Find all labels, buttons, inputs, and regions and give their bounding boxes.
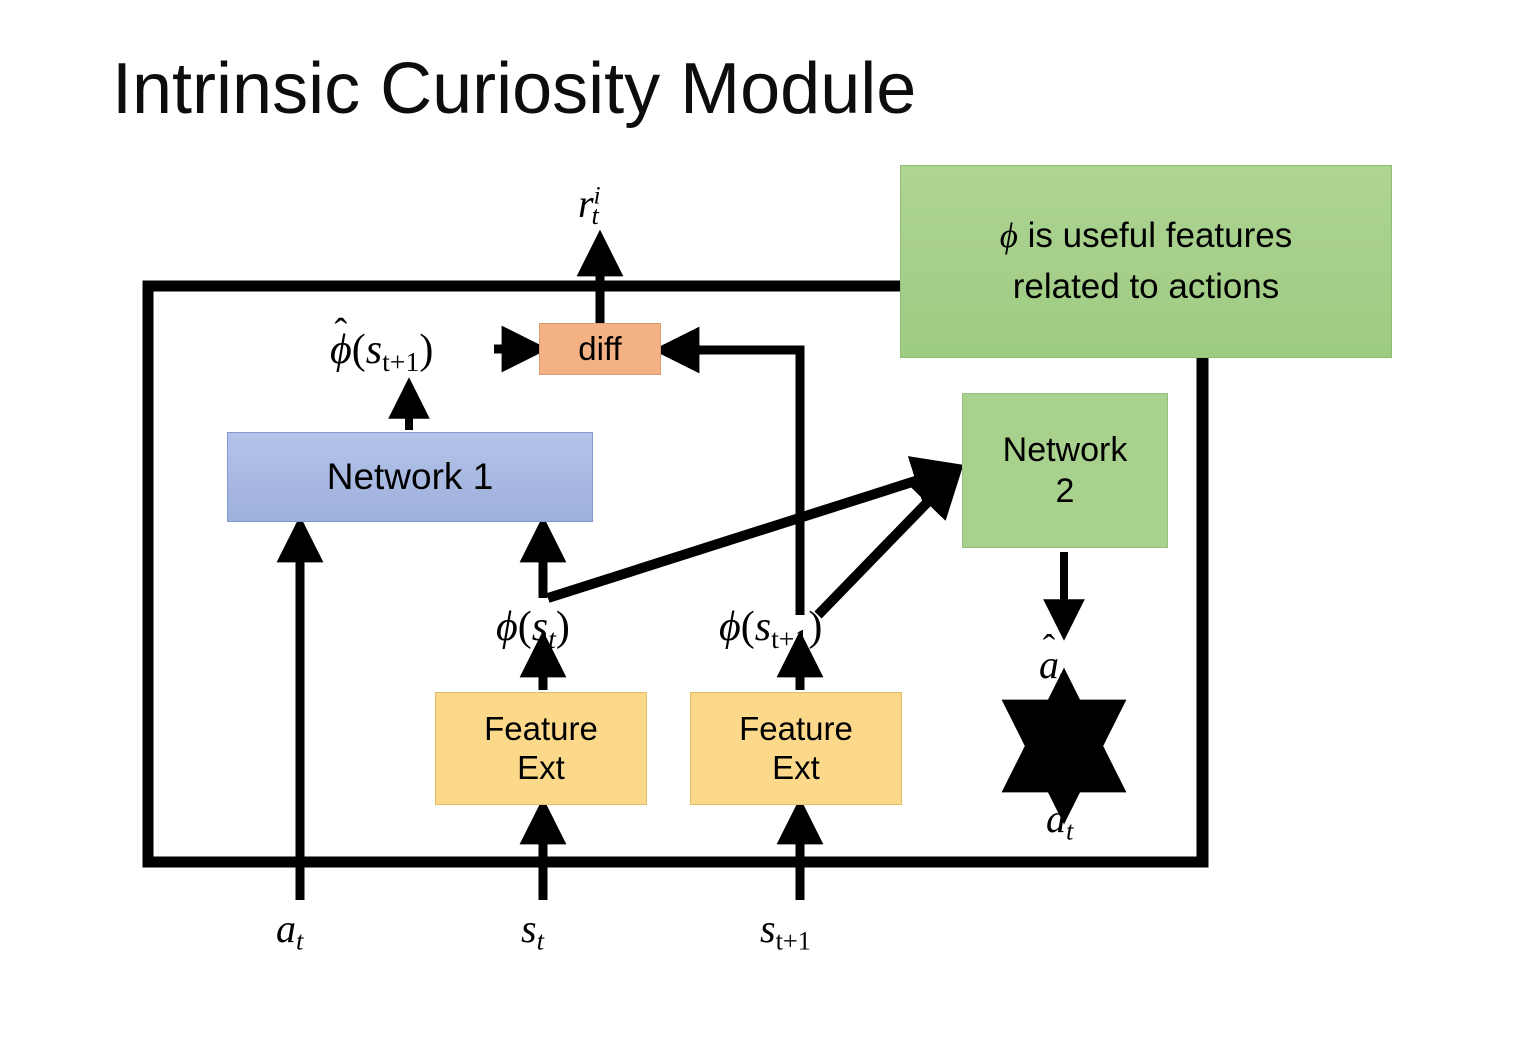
label-phi-next-state: ϕ(st+1) [719,603,822,655]
diagram-canvas: Intrinsic Curiosity Module [0,0,1540,1048]
action-right-base: a [1046,796,1066,841]
input-state-base: s [521,906,537,951]
phi-hat-arg: s [366,327,382,373]
input-next-base: s [760,906,776,951]
node-network1[interactable]: Network 1 [227,432,593,522]
network2-label-line2: 2 [1056,471,1075,511]
phi-hat-paren-open: ( [352,327,366,373]
label-input-next-state: st+1 [760,905,811,956]
feature-ext-2-label-line1: Feature [739,710,853,749]
label-intrinsic-reward: rit [578,180,599,231]
node-network2[interactable]: Network 2 [962,393,1168,548]
phi-hat-arg-sub: t+1 [382,346,419,377]
edge-phinext-to-diff [667,350,800,615]
phi-next-base: ϕ [719,604,741,650]
input-action-sub: t [296,925,303,955]
label-input-state: st [521,905,544,956]
network2-label-line1: Network [1003,430,1128,470]
diff-label: diff [578,330,621,369]
label-input-action: at [276,905,303,956]
phi-next-paren-open: ( [741,604,755,650]
node-feature-ext-1[interactable]: Feature Ext [435,692,647,805]
annotation-line1: ϕ is useful features [1000,211,1292,262]
phi-state-paren-open: ( [518,604,532,650]
phi-state-arg: s [532,604,548,650]
edge-phinext-to-network2 [818,477,952,615]
phi-next-arg-sub: t+1 [771,623,808,654]
feature-ext-2-label-line2: Ext [772,749,820,788]
phi-hat-base: ϕ [330,327,352,373]
icm-boundary-frame [148,286,1203,862]
annotation-line2: related to actions [1013,262,1280,313]
input-action-base: a [276,906,296,951]
action-hat-sub: t [1059,661,1066,691]
label-phi-hat-next: ̂ϕ(st+1) [330,326,433,378]
input-next-sub: t+1 [776,925,811,955]
action-right-sub: t [1066,815,1073,845]
node-feature-ext-2[interactable]: Feature Ext [690,692,902,805]
action-hat-base: a [1039,642,1059,687]
annotation-note-phi: ϕ is useful features related to actions [900,165,1392,358]
label-action-hat: ̂at [1039,641,1066,692]
phi-next-paren-close: ) [808,604,822,650]
phi-symbol: ϕ [1000,216,1018,255]
label-phi-state: ϕ(st) [496,603,570,655]
diagram-connectors [0,0,1540,1048]
reward-sub: t [592,200,599,230]
phi-state-arg-sub: t [548,623,556,654]
phi-hat-group: ̂ϕ [330,326,352,374]
action-hat-group: ̂a [1039,641,1059,688]
network1-label: Network 1 [327,455,494,499]
label-action-right: at [1046,795,1073,846]
input-state-sub: t [537,925,544,955]
phi-state-paren-close: ) [556,604,570,650]
phi-hat-paren-close: ) [419,327,433,373]
phi-state-base: ϕ [496,604,518,650]
annotation-line1-rest: is useful features [1018,216,1292,255]
feature-ext-1-label-line1: Feature [484,710,598,749]
feature-ext-1-label-line2: Ext [517,749,565,788]
node-diff[interactable]: diff [539,323,661,375]
phi-next-arg: s [755,604,771,650]
